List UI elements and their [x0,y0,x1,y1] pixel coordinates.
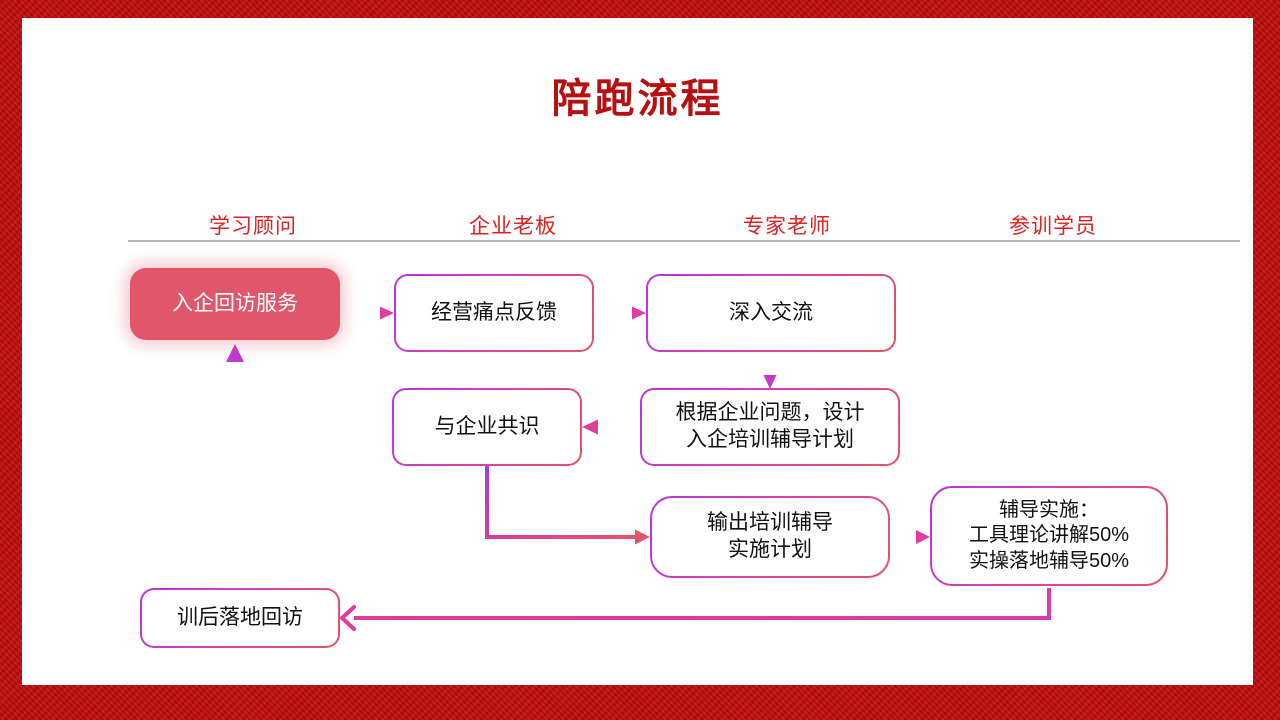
node-deep-communication[interactable]: 深入交流 [646,274,896,352]
node-entry-visit-service[interactable]: 入企回访服务 [130,268,340,340]
column-header-0: 学习顾问 [153,210,353,240]
slide-frame: 陪跑流程 学习顾问 企业老板 专家老师 参训学员 [0,0,1280,720]
node-post-training-followup[interactable]: 训后落地回访 [140,588,340,648]
connector-impl-to-follow [342,588,1049,629]
connector-pain-to-deep [597,307,646,320]
connector-output-to-impl [892,530,930,544]
column-header-2: 专家老师 [687,210,887,240]
node-pain-point-feedback[interactable]: 经营痛点反馈 [394,274,594,352]
column-header-1: 企业老板 [413,210,613,240]
connector-follow-to-visit [226,344,244,588]
node-coaching-implementation[interactable]: 辅导实施： 工具理论讲解50% 实操落地辅导50% [930,486,1168,586]
connector-consensus-to-output [487,468,650,545]
node-enterprise-consensus[interactable]: 与企业共识 [392,388,582,466]
connector-visit-to-pain [344,307,394,320]
slide-canvas: 陪跑流程 学习顾问 企业老板 专家老师 参训学员 [22,18,1253,685]
column-header-3: 参训学员 [953,210,1153,240]
page-title: 陪跑流程 [22,66,1253,124]
connector-deep-to-design [764,352,777,389]
node-output-implementation[interactable]: 输出培训辅导 实施计划 [650,496,890,578]
connector-design-to-consensus [582,420,638,435]
node-design-training-plan[interactable]: 根据企业问题，设计 入企培训辅导计划 [640,388,900,466]
header-divider [128,240,1240,242]
